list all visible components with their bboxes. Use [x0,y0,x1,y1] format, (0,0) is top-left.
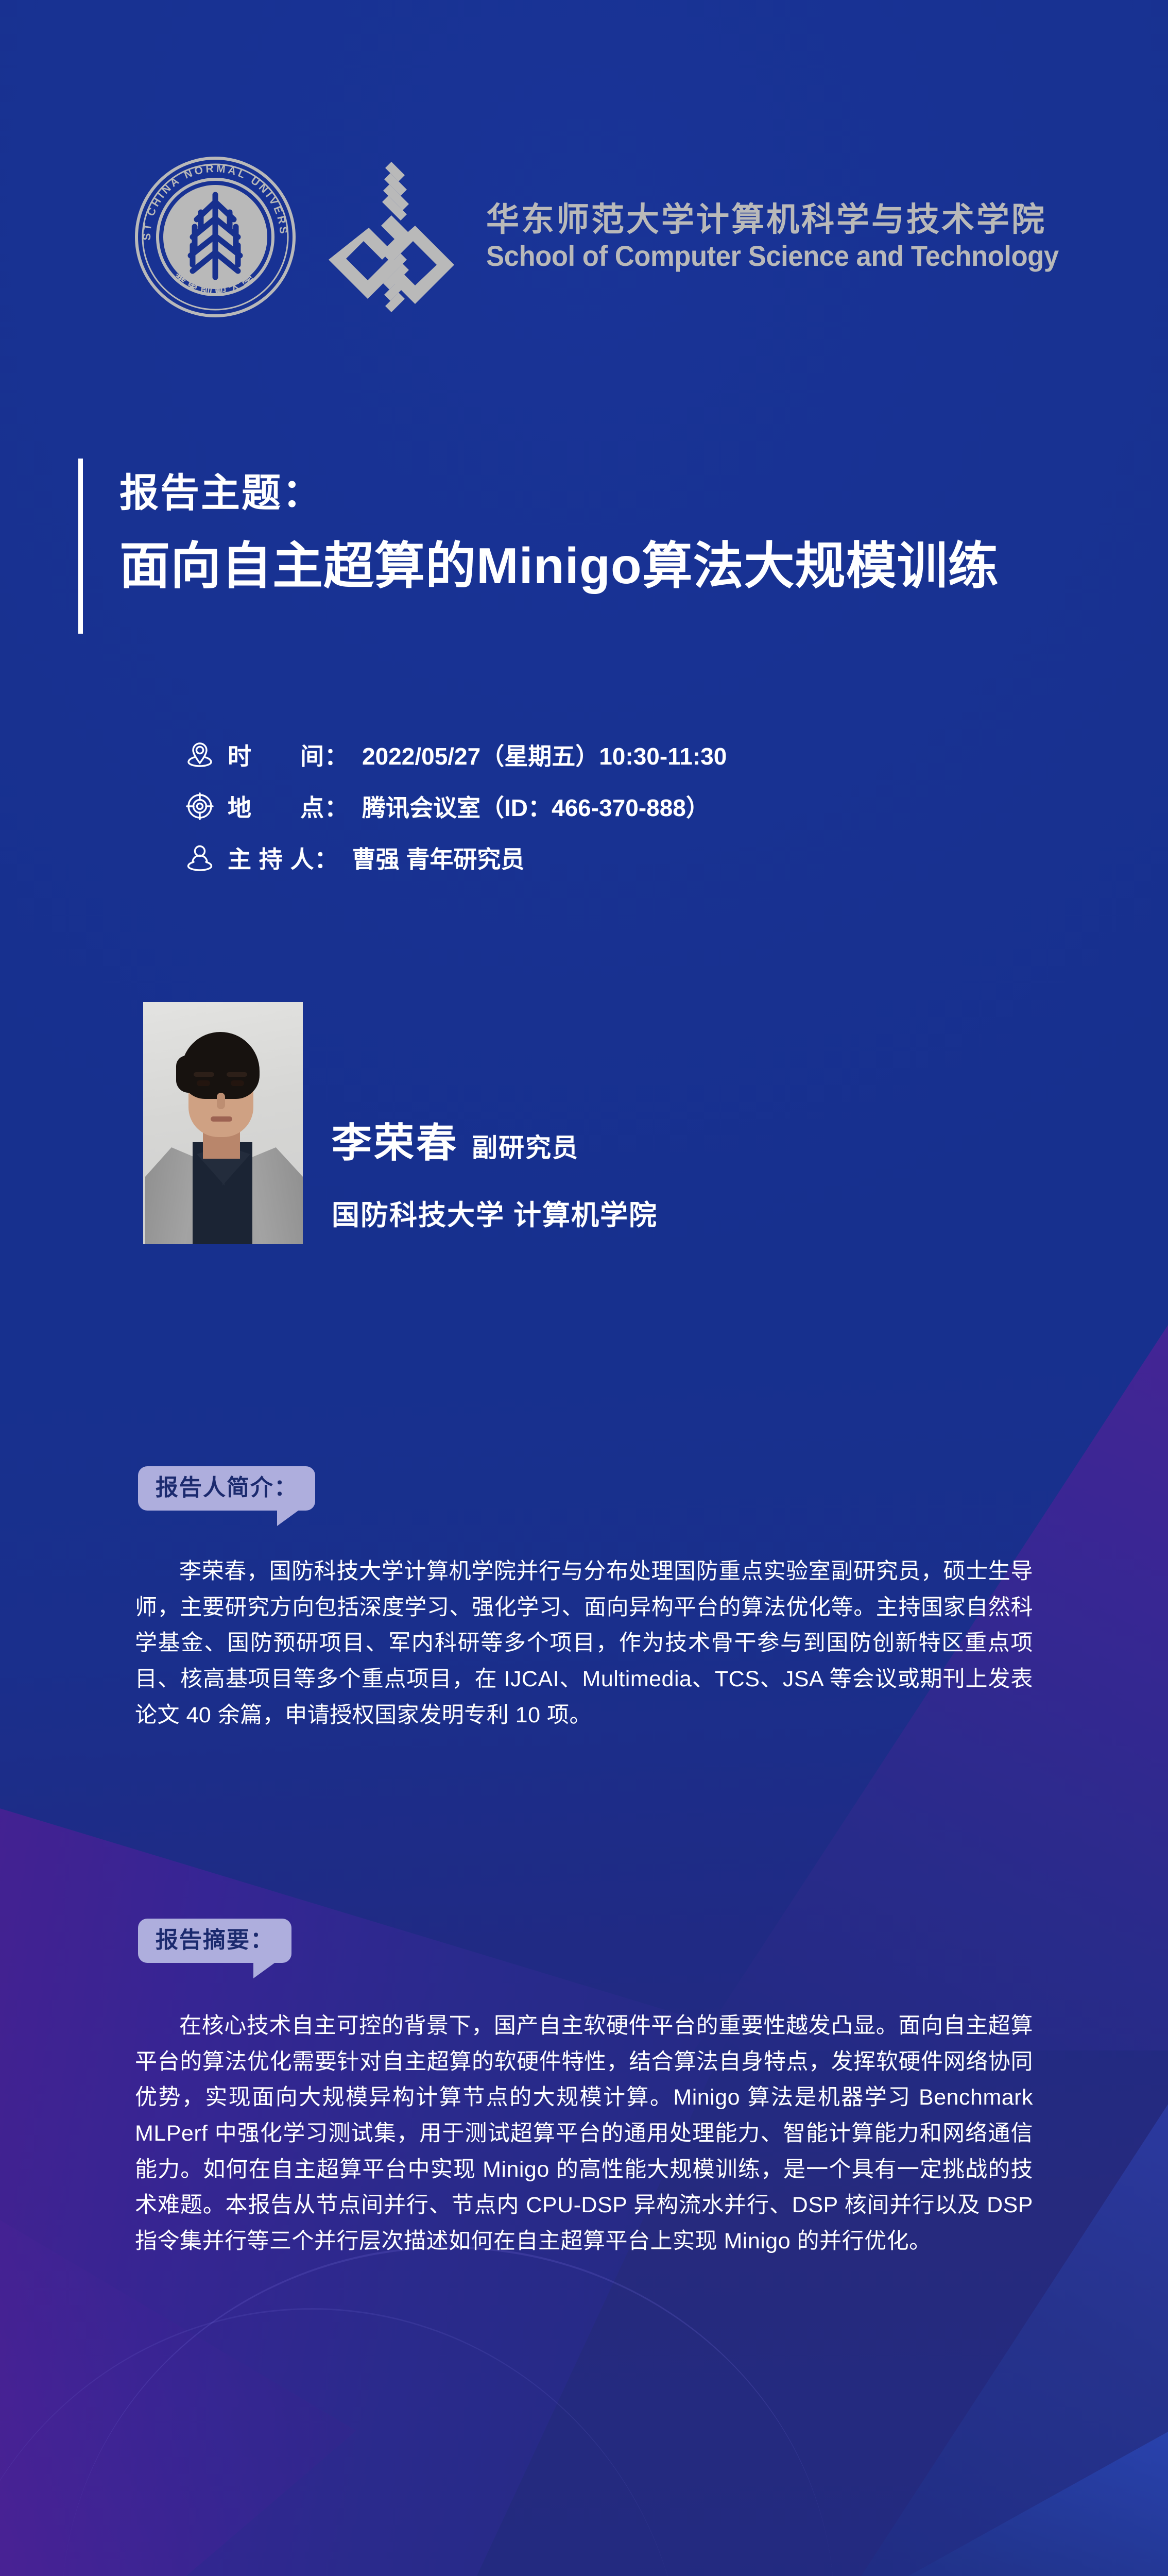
meta-row-host: 主 持 人： 曹强 青年研究员 [185,841,727,875]
portrait-eye-left [197,1080,210,1086]
section-label-abstract-text: 报告摘要： [156,1927,274,1953]
section-label-abstract: 报告摘要： [138,1919,291,1963]
event-meta-list: 时 间： 2022/05/27（星期五）10:30-11:30 地 点： 腾讯会… [185,738,727,875]
meta-label-time: 时 间： [228,738,349,772]
school-name-cn: 华东师范大学计算机科学与技术学院 [486,202,1095,237]
speaker-name-line: 李荣春 副研究员 [332,1111,658,1168]
target-crosshair-icon [185,792,214,821]
school-name-block: 华东师范大学计算机科学与技术学院 School of Computer Scie… [486,202,1095,272]
portrait-eyebrow-right [227,1072,247,1077]
meta-row-location: 地 点： 腾讯会议室（ID：466-370-888） [185,789,727,823]
ecnu-seal-icon: EAST CHINA NORMAL UNIVERSITY 華東師範大學 [133,155,298,319]
title-kicker: 报告主题： [119,472,1088,515]
ecnu-seal-logo: EAST CHINA NORMAL UNIVERSITY 華東師範大學 [133,155,298,319]
speaker-bio-paragraph: 李荣春，国防科技大学计算机学院并行与分布处理国防重点实验室副研究员，硕士生导师，… [135,1554,1033,1733]
seminar-poster: EAST CHINA NORMAL UNIVERSITY 華東師範大學 [0,0,1168,2576]
speaker-block: 李荣春 副研究员 国防科技大学 计算机学院 [143,1002,658,1244]
meta-label-location: 地 点： [228,789,349,823]
school-diamond-icon [314,160,469,314]
page-title: 面向自主超算的Minigo算法大规模训练 [119,537,1088,595]
meta-value-location: 腾讯会议室（ID：466-370-888） [362,789,710,823]
speaker-affiliation: 国防科技大学 计算机学院 [332,1192,658,1233]
speaker-name: 李荣春 [332,1111,458,1168]
title-block: 报告主题： 面向自主超算的Minigo算法大规模训练 [78,459,1088,595]
portrait-hair [181,1032,260,1099]
title-accent-bar [78,459,83,634]
section-label-bio: 报告人简介： [138,1466,315,1511]
speaker-text-block: 李荣春 副研究员 国防科技大学 计算机学院 [332,1111,658,1244]
location-pin-icon [185,740,214,769]
section-label-bio-text: 报告人简介： [156,1475,298,1500]
school-name-en: School of Computer Science and Technolog… [486,241,1059,272]
portrait-eye-right [231,1080,244,1086]
abstract-paragraph: 在核心技术自主可控的背景下，国产自主软硬件平台的重要性越发凸显。面向自主超算平台… [135,2008,1033,2260]
poster-header: EAST CHINA NORMAL UNIVERSITY 華東師範大學 [0,155,1168,319]
meta-value-time: 2022/05/27（星期五）10:30-11:30 [362,738,727,772]
portrait-mouth [211,1116,232,1122]
school-diamond-logo [314,160,469,314]
portrait-eyebrow-left [194,1072,214,1077]
speaker-title: 副研究员 [472,1127,579,1164]
person-icon [185,843,214,872]
portrait-nose [217,1093,225,1109]
meta-value-host: 曹强 青年研究员 [352,841,525,875]
meta-label-host: 主 持 人： [228,841,339,875]
meta-row-time: 时 间： 2022/05/27（星期五）10:30-11:30 [185,738,727,772]
speaker-portrait-photo [143,1002,303,1244]
